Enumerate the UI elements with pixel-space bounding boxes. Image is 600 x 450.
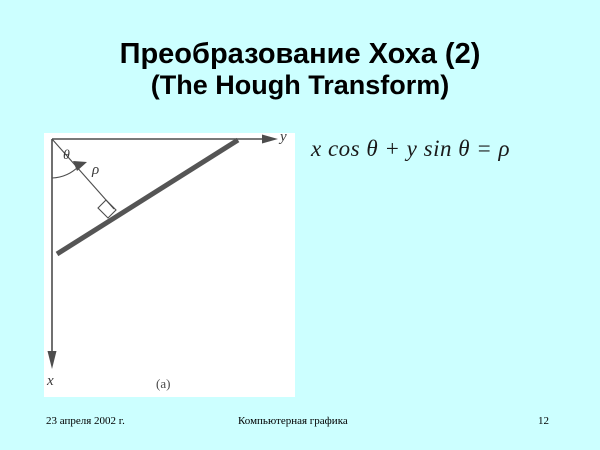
detected-line [57,140,238,254]
title-line-english: (The Hough Transform) [0,72,600,100]
hough-transform-figure: y x θ ρ (a) [44,133,295,397]
y-axis [52,135,278,144]
slide-title: Преобразование Хоха (2) (The Hough Trans… [0,40,600,99]
rho-segment [52,139,114,209]
hough-equation: x cos θ + y sin θ = ρ [311,136,510,162]
title-line-russian: Преобразование Хоха (2) [0,40,600,70]
footer-course-title: Компьютерная графика [238,415,348,427]
slide-canvas: Преобразование Хоха (2) (The Hough Trans… [0,0,600,450]
x-axis [48,139,57,369]
footer-date: 23 апреля 2002 г. [46,415,125,427]
footer-page-number: 12 [538,415,549,427]
theta-label: θ [63,148,70,164]
x-axis-label: x [47,373,54,390]
figure-caption: (a) [156,376,170,392]
rho-label: ρ [92,162,99,179]
theta-arc [52,166,79,178]
y-axis-label: y [280,129,287,146]
figure-diagram-svg [44,133,295,397]
slide-footer: 23 апреля 2002 г. Компьютерная графика 1… [0,413,600,433]
